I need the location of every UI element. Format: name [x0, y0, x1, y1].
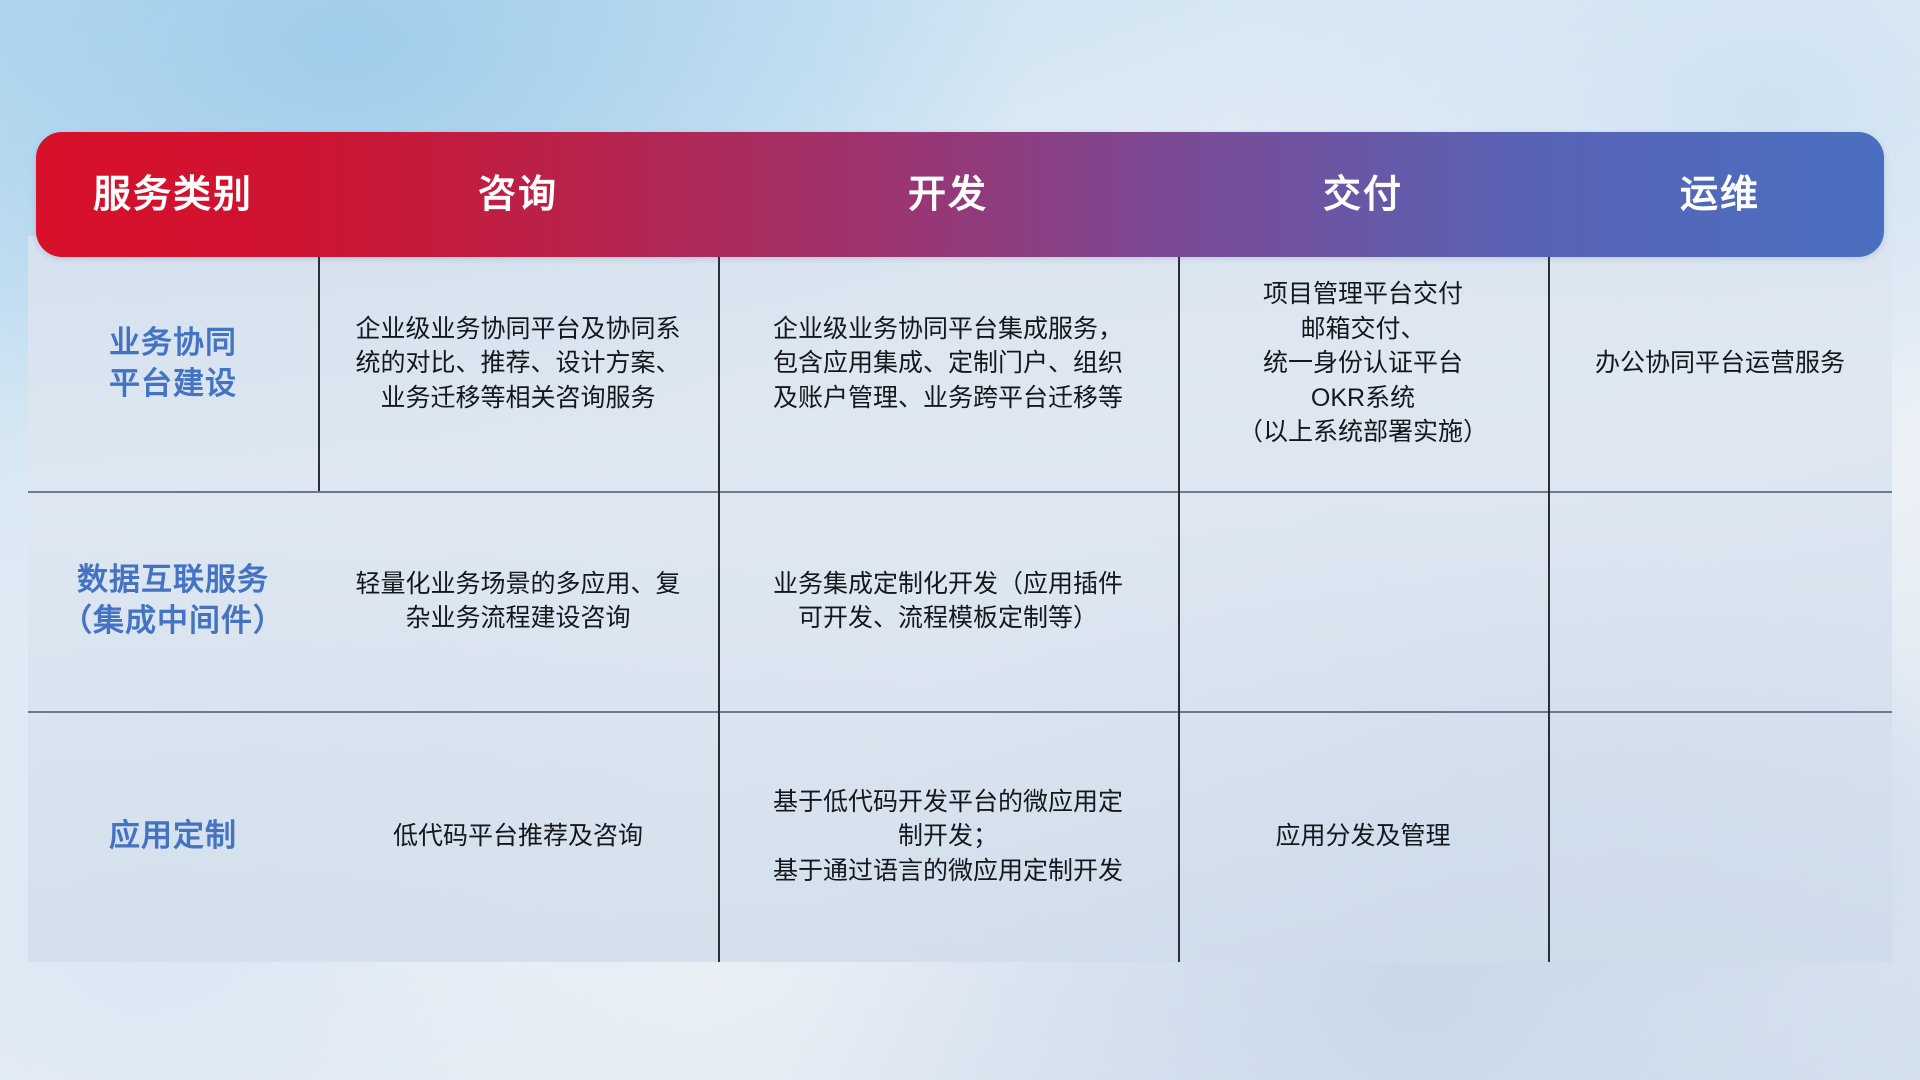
- table-cell-development: 基于低代码开发平台的微应用定 制开发； 基于通过语言的微应用定制开发: [718, 711, 1178, 962]
- column-header-development: 开发: [718, 132, 1178, 257]
- column-separator: [1178, 236, 1180, 962]
- column-separator: [318, 236, 320, 491]
- column-separator: [718, 236, 720, 962]
- table-cell-delivery: 项目管理平台交付 邮箱交付、 统一身份认证平台 OKR系统 （以上系统部署实施）: [1178, 236, 1548, 491]
- table-cell-development: 企业级业务协同平台集成服务， 包含应用集成、定制门户、组织 及账户管理、业务跨平…: [718, 236, 1178, 491]
- table-cell-delivery: [1178, 491, 1548, 711]
- table-grid: 业务协同 平台建设企业级业务协同平台及协同系 统的对比、推荐、设计方案、 业务迁…: [28, 236, 1892, 962]
- table-cell-consulting: 轻量化业务场景的多应用、复 杂业务流程建设咨询: [318, 491, 718, 711]
- table-cell-consulting: 企业级业务协同平台及协同系 统的对比、推荐、设计方案、 业务迁移等相关咨询服务: [318, 236, 718, 491]
- column-header-consulting: 咨询: [318, 132, 718, 257]
- table-cell-operations: [1548, 491, 1892, 711]
- row-category-label: 业务协同 平台建设: [28, 236, 318, 491]
- row-separator: [28, 711, 1892, 713]
- table-cell-operations: 办公协同平台运营服务: [1548, 236, 1892, 491]
- service-matrix-panel: 服务类别咨询开发交付运维 业务协同 平台建设企业级业务协同平台及协同系 统的对比…: [28, 132, 1892, 962]
- table-cell-operations: [1548, 711, 1892, 962]
- table-cell-development: 业务集成定制化开发（应用插件 可开发、流程模板定制等）: [718, 491, 1178, 711]
- column-header-category: 服务类别: [28, 132, 318, 257]
- table-cell-delivery: 应用分发及管理: [1178, 711, 1548, 962]
- table-cell-consulting: 低代码平台推荐及咨询: [318, 711, 718, 962]
- column-header-delivery: 交付: [1178, 132, 1548, 257]
- row-separator: [28, 491, 1892, 493]
- table-header-row: 服务类别咨询开发交付运维: [36, 132, 1884, 257]
- row-category-label: 应用定制: [28, 711, 318, 962]
- row-category-label: 数据互联服务 （集成中间件）: [28, 491, 318, 711]
- column-header-operations: 运维: [1548, 132, 1892, 257]
- column-separator: [1548, 236, 1550, 962]
